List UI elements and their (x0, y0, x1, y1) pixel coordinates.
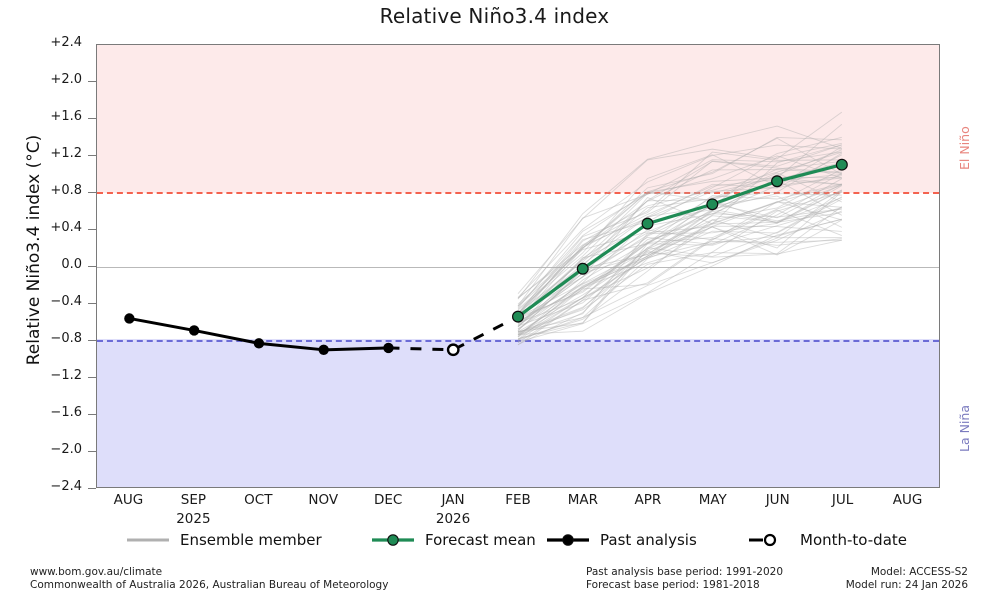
y-tick-label: −2.4 (36, 479, 82, 494)
y-tick-label: +2.0 (36, 72, 82, 87)
footer-model-info: Model: ACCESS-S2 Model run: 24 Jan 2026 (800, 566, 968, 591)
y-tick (88, 155, 96, 156)
x-year-label: 2025 (153, 511, 233, 527)
y-tick-label: −2.0 (36, 442, 82, 457)
plot-area (96, 44, 940, 488)
y-tick-label: −0.4 (36, 294, 82, 309)
y-tick-label: +0.8 (36, 183, 82, 198)
y-tick-label: +1.6 (36, 109, 82, 124)
y-tick (88, 81, 96, 82)
y-tick (88, 377, 96, 378)
footer-past-base: Past analysis base period: 1991-2020 (586, 566, 758, 579)
footer-copyright: Commonwealth of Australia 2026, Australi… (30, 579, 388, 592)
y-tick-label: −0.8 (36, 331, 82, 346)
legend-label-month-to-date: Month-to-date (800, 531, 907, 549)
y-tick-label: +0.4 (36, 220, 82, 235)
el-nino-side-label: El Niño (957, 126, 972, 170)
legend-label-forecast-mean: Forecast mean (425, 531, 536, 549)
y-tick (88, 488, 96, 489)
legend-item-past-analysis[interactable]: Past analysis (545, 527, 697, 553)
month-to-date-marker (389, 317, 518, 355)
y-tick (88, 118, 96, 119)
y-tick-label: −1.6 (36, 405, 82, 420)
chart-page: Relative Niño3.4 index Relative Niño3.4 … (0, 0, 989, 594)
y-tick-label: +1.2 (36, 146, 82, 161)
y-tick-label: 0.0 (36, 257, 82, 272)
legend-swatch-month-to-date (745, 532, 791, 548)
footer-model: Model: ACCESS-S2 (800, 566, 968, 579)
legend-item-month-to-date[interactable]: Month-to-date (745, 527, 907, 553)
legend-label-past-analysis: Past analysis (600, 531, 697, 549)
footer-forecast-base: Forecast base period: 1981-2018 (586, 579, 758, 592)
la-nina-side-label: La Niña (957, 405, 972, 452)
page-title: Relative Niño3.4 index (0, 4, 989, 28)
y-tick (88, 266, 96, 267)
y-tick (88, 192, 96, 193)
series-canvas (97, 45, 939, 487)
legend-label-ensemble-member: Ensemble member (180, 531, 322, 549)
legend-item-forecast-mean[interactable]: Forecast mean (370, 527, 536, 553)
y-tick (88, 340, 96, 341)
footer-model-run: Model run: 24 Jan 2026 (800, 579, 968, 592)
y-tick (88, 414, 96, 415)
ensemble-member-lines (518, 112, 842, 345)
y-tick (88, 303, 96, 304)
legend-swatch-ensemble-member (125, 532, 171, 548)
footer-left: www.bom.gov.au/climate Commonwealth of A… (30, 566, 388, 591)
y-tick (88, 451, 96, 452)
y-tick (88, 229, 96, 230)
x-year-label: 2026 (413, 511, 493, 527)
legend-item-ensemble-member[interactable]: Ensemble member (125, 527, 322, 553)
legend-swatch-forecast-mean (370, 532, 416, 548)
y-tick-label: +2.4 (36, 35, 82, 50)
y-tick-label: −1.2 (36, 368, 82, 383)
footer-base-periods: Past analysis base period: 1991-2020 For… (586, 566, 758, 591)
chart-legend: Ensemble memberForecast meanPast analysi… (0, 527, 989, 553)
footer-site: www.bom.gov.au/climate (30, 566, 388, 579)
past-analysis-line (124, 313, 393, 355)
x-tick-label: AUG (868, 492, 948, 508)
legend-swatch-past-analysis (545, 532, 591, 548)
